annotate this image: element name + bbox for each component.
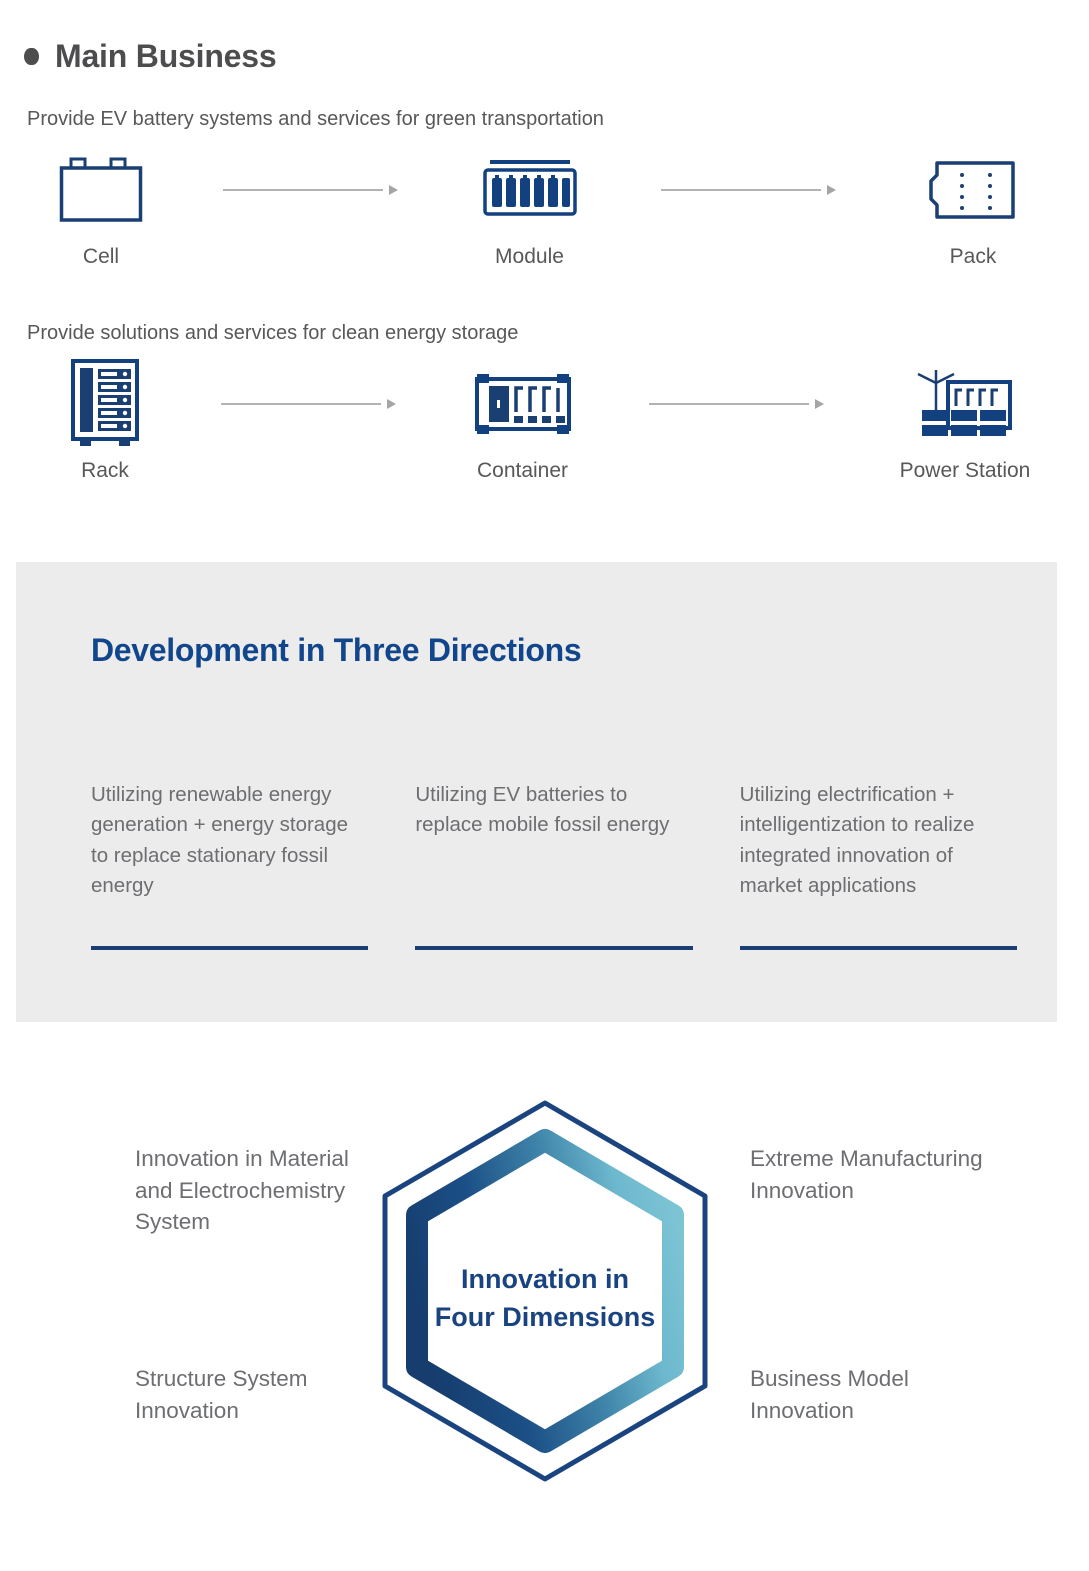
- battery-pack-icon: [929, 147, 1017, 233]
- section-caption-storage: Provide solutions and services for clean…: [0, 323, 1089, 343]
- flow-node-label: Rack: [81, 459, 129, 483]
- direction-column: Utilizing renewable energy generation + …: [91, 780, 368, 950]
- panel-title: Development in Three Directions: [91, 632, 581, 669]
- three-directions-panel: Development in Three Directions Utilizin…: [16, 562, 1057, 1022]
- flow-node-container: Container: [438, 361, 608, 483]
- flow-node-label: Module: [495, 245, 564, 269]
- flow-node-rack: Rack: [30, 361, 180, 483]
- flow-arrow-1: [176, 147, 445, 233]
- hexagon-center-label: Innovation in Four Dimensions: [360, 1260, 730, 1337]
- direction-text: Utilizing EV batteries to replace mobile…: [415, 780, 692, 841]
- arrow-right-icon: [649, 399, 824, 409]
- page-header: Main Business: [0, 0, 1089, 72]
- arrow-right-icon: [661, 185, 836, 195]
- hexagon-outline-icon: Innovation in Four Dimensions: [360, 1095, 730, 1495]
- flow-node-power-station: Power Station: [865, 361, 1065, 483]
- dimension-label-structure: Structure System Innovation: [135, 1363, 350, 1426]
- hexagon-center-line-1: Innovation in: [360, 1260, 730, 1298]
- section-caption-ev: Provide EV battery systems and services …: [0, 109, 1089, 129]
- arrow-right-icon: [221, 399, 396, 409]
- arrow-right-icon: [223, 185, 398, 195]
- flow-row-ev: Cell: [0, 147, 1089, 269]
- flow-node-pack: Pack: [883, 147, 1063, 269]
- server-rack-icon: [71, 361, 139, 447]
- flow-node-module: Module: [445, 147, 615, 269]
- page-title: Main Business: [55, 40, 276, 72]
- direction-underline: [415, 946, 692, 950]
- flow-node-label: Power Station: [900, 459, 1031, 483]
- flow-arrow-2: [615, 147, 884, 233]
- battery-cell-icon: [59, 147, 143, 233]
- flow-node-label: Pack: [950, 245, 997, 269]
- flow-node-label: Container: [477, 459, 568, 483]
- direction-column: Utilizing electrification + intelligenti…: [740, 780, 1017, 950]
- dimension-label-business-model: Business Model Innovation: [750, 1363, 970, 1426]
- direction-text: Utilizing renewable energy generation + …: [91, 780, 368, 901]
- flow-arrow-3: [180, 361, 438, 447]
- flow-node-cell: Cell: [26, 147, 176, 269]
- four-dimensions-block: Innovation in Material and Electrochemis…: [0, 1075, 1089, 1515]
- battery-module-icon: [481, 147, 579, 233]
- flow-row-storage: Rack: [0, 361, 1089, 483]
- flow-arrow-4: [608, 361, 866, 447]
- hex-bullet-icon: [24, 48, 39, 65]
- three-directions-columns: Utilizing renewable energy generation + …: [91, 780, 1017, 950]
- power-station-icon: [910, 361, 1020, 447]
- flow-node-label: Cell: [83, 245, 119, 269]
- direction-underline: [740, 946, 1017, 950]
- dimension-label-material: Innovation in Material and Electrochemis…: [135, 1143, 350, 1238]
- hexagon-center-line-2: Four Dimensions: [360, 1298, 730, 1336]
- direction-underline: [91, 946, 368, 950]
- storage-container-icon: [473, 361, 573, 447]
- dimension-label-manufacturing: Extreme Manufacturing Innovation: [750, 1143, 990, 1206]
- direction-text: Utilizing electrification + intelligenti…: [740, 780, 1017, 901]
- direction-column: Utilizing EV batteries to replace mobile…: [415, 780, 692, 950]
